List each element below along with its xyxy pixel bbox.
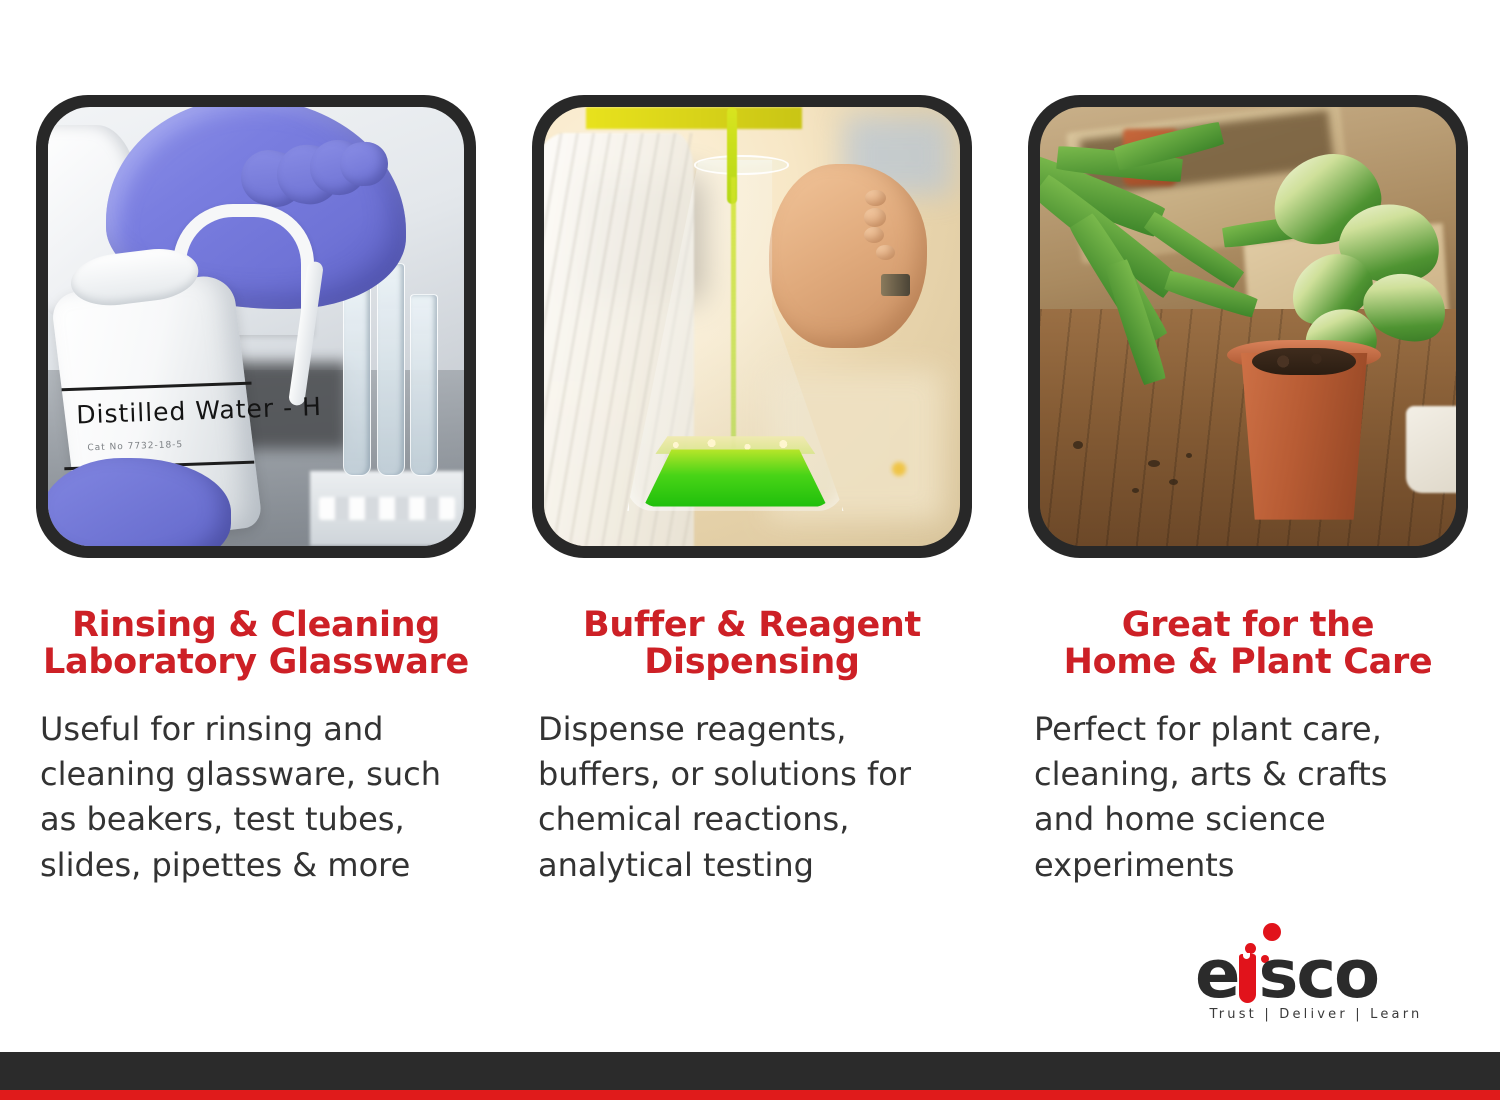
finger: [865, 190, 886, 207]
hand-holding-flask: [769, 164, 927, 348]
footer-dark-bar: [0, 1052, 1500, 1090]
column-body-home-plant-care: Perfect for plant care, cleaning, arts &…: [1028, 707, 1468, 889]
potting-soil: [1252, 348, 1356, 374]
erlenmeyer-flask-green-liquid-photo: [544, 107, 960, 546]
logo-letters-sco: sco: [1258, 941, 1378, 1008]
feature-column-home-plant-care: Great for the Home & Plant Care Perfect …: [1028, 95, 1468, 888]
potted-plant-wooden-table-photo: [1040, 107, 1456, 546]
spilled-soil: [1186, 453, 1192, 458]
logo-tagline: Trust | Deliver | Learn: [1201, 1007, 1431, 1022]
feature-column-buffer-reagent: Buffer & Reagent Dispensing Dispense rea…: [532, 95, 972, 888]
column-heading-buffer-reagent: Buffer & Reagent Dispensing: [532, 607, 972, 681]
eisco-wordmark: esco: [1195, 941, 1435, 1008]
feature-columns: Distilled Water - H Cat No 7732-18-5 Rin…: [0, 95, 1500, 888]
thumb: [876, 245, 895, 260]
logo-letter-e: e: [1195, 941, 1238, 1008]
photo-card-home-plant-care: [1028, 95, 1468, 558]
column-heading-home-plant-care: Great for the Home & Plant Care: [1028, 607, 1468, 681]
photo-card-buffer-reagent: [532, 95, 972, 558]
eisco-logo: esco Trust | Deliver | Learn: [1195, 915, 1435, 1030]
test-tube-icon: [1239, 954, 1256, 1003]
wash-bottle-label-text: Distilled Water - H: [75, 394, 244, 429]
bokeh-highlight: [892, 462, 906, 476]
finger: [864, 208, 886, 226]
column-heading-rinsing-cleaning: Rinsing & Cleaning Laboratory Glassware: [36, 607, 476, 681]
terracotta-pot: [1236, 353, 1373, 520]
test-tube: [343, 281, 371, 476]
test-tube: [410, 294, 438, 476]
column-body-buffer-reagent: Dispense reagents, buffers, or solutions…: [532, 707, 972, 889]
test-tube: [377, 263, 405, 476]
liquid-stream: [731, 177, 736, 449]
white-pot: [1406, 406, 1456, 494]
flask-rim: [694, 155, 790, 174]
ring: [881, 274, 910, 296]
finger: [864, 227, 885, 244]
pouring-vessel-edge: [586, 107, 802, 129]
test-tube-rack: [310, 471, 464, 546]
spilled-soil: [1169, 479, 1178, 485]
column-body-rinsing-cleaning: Useful for rinsing and cleaning glasswar…: [36, 707, 476, 889]
gloved-hands-wash-bottle-photo: Distilled Water - H Cat No 7732-18-5: [48, 107, 464, 546]
footer-red-bar: [0, 1090, 1500, 1100]
photo-card-rinsing-cleaning: Distilled Water - H Cat No 7732-18-5: [36, 95, 476, 558]
feature-column-rinsing-cleaning: Distilled Water - H Cat No 7732-18-5 Rin…: [36, 95, 476, 888]
